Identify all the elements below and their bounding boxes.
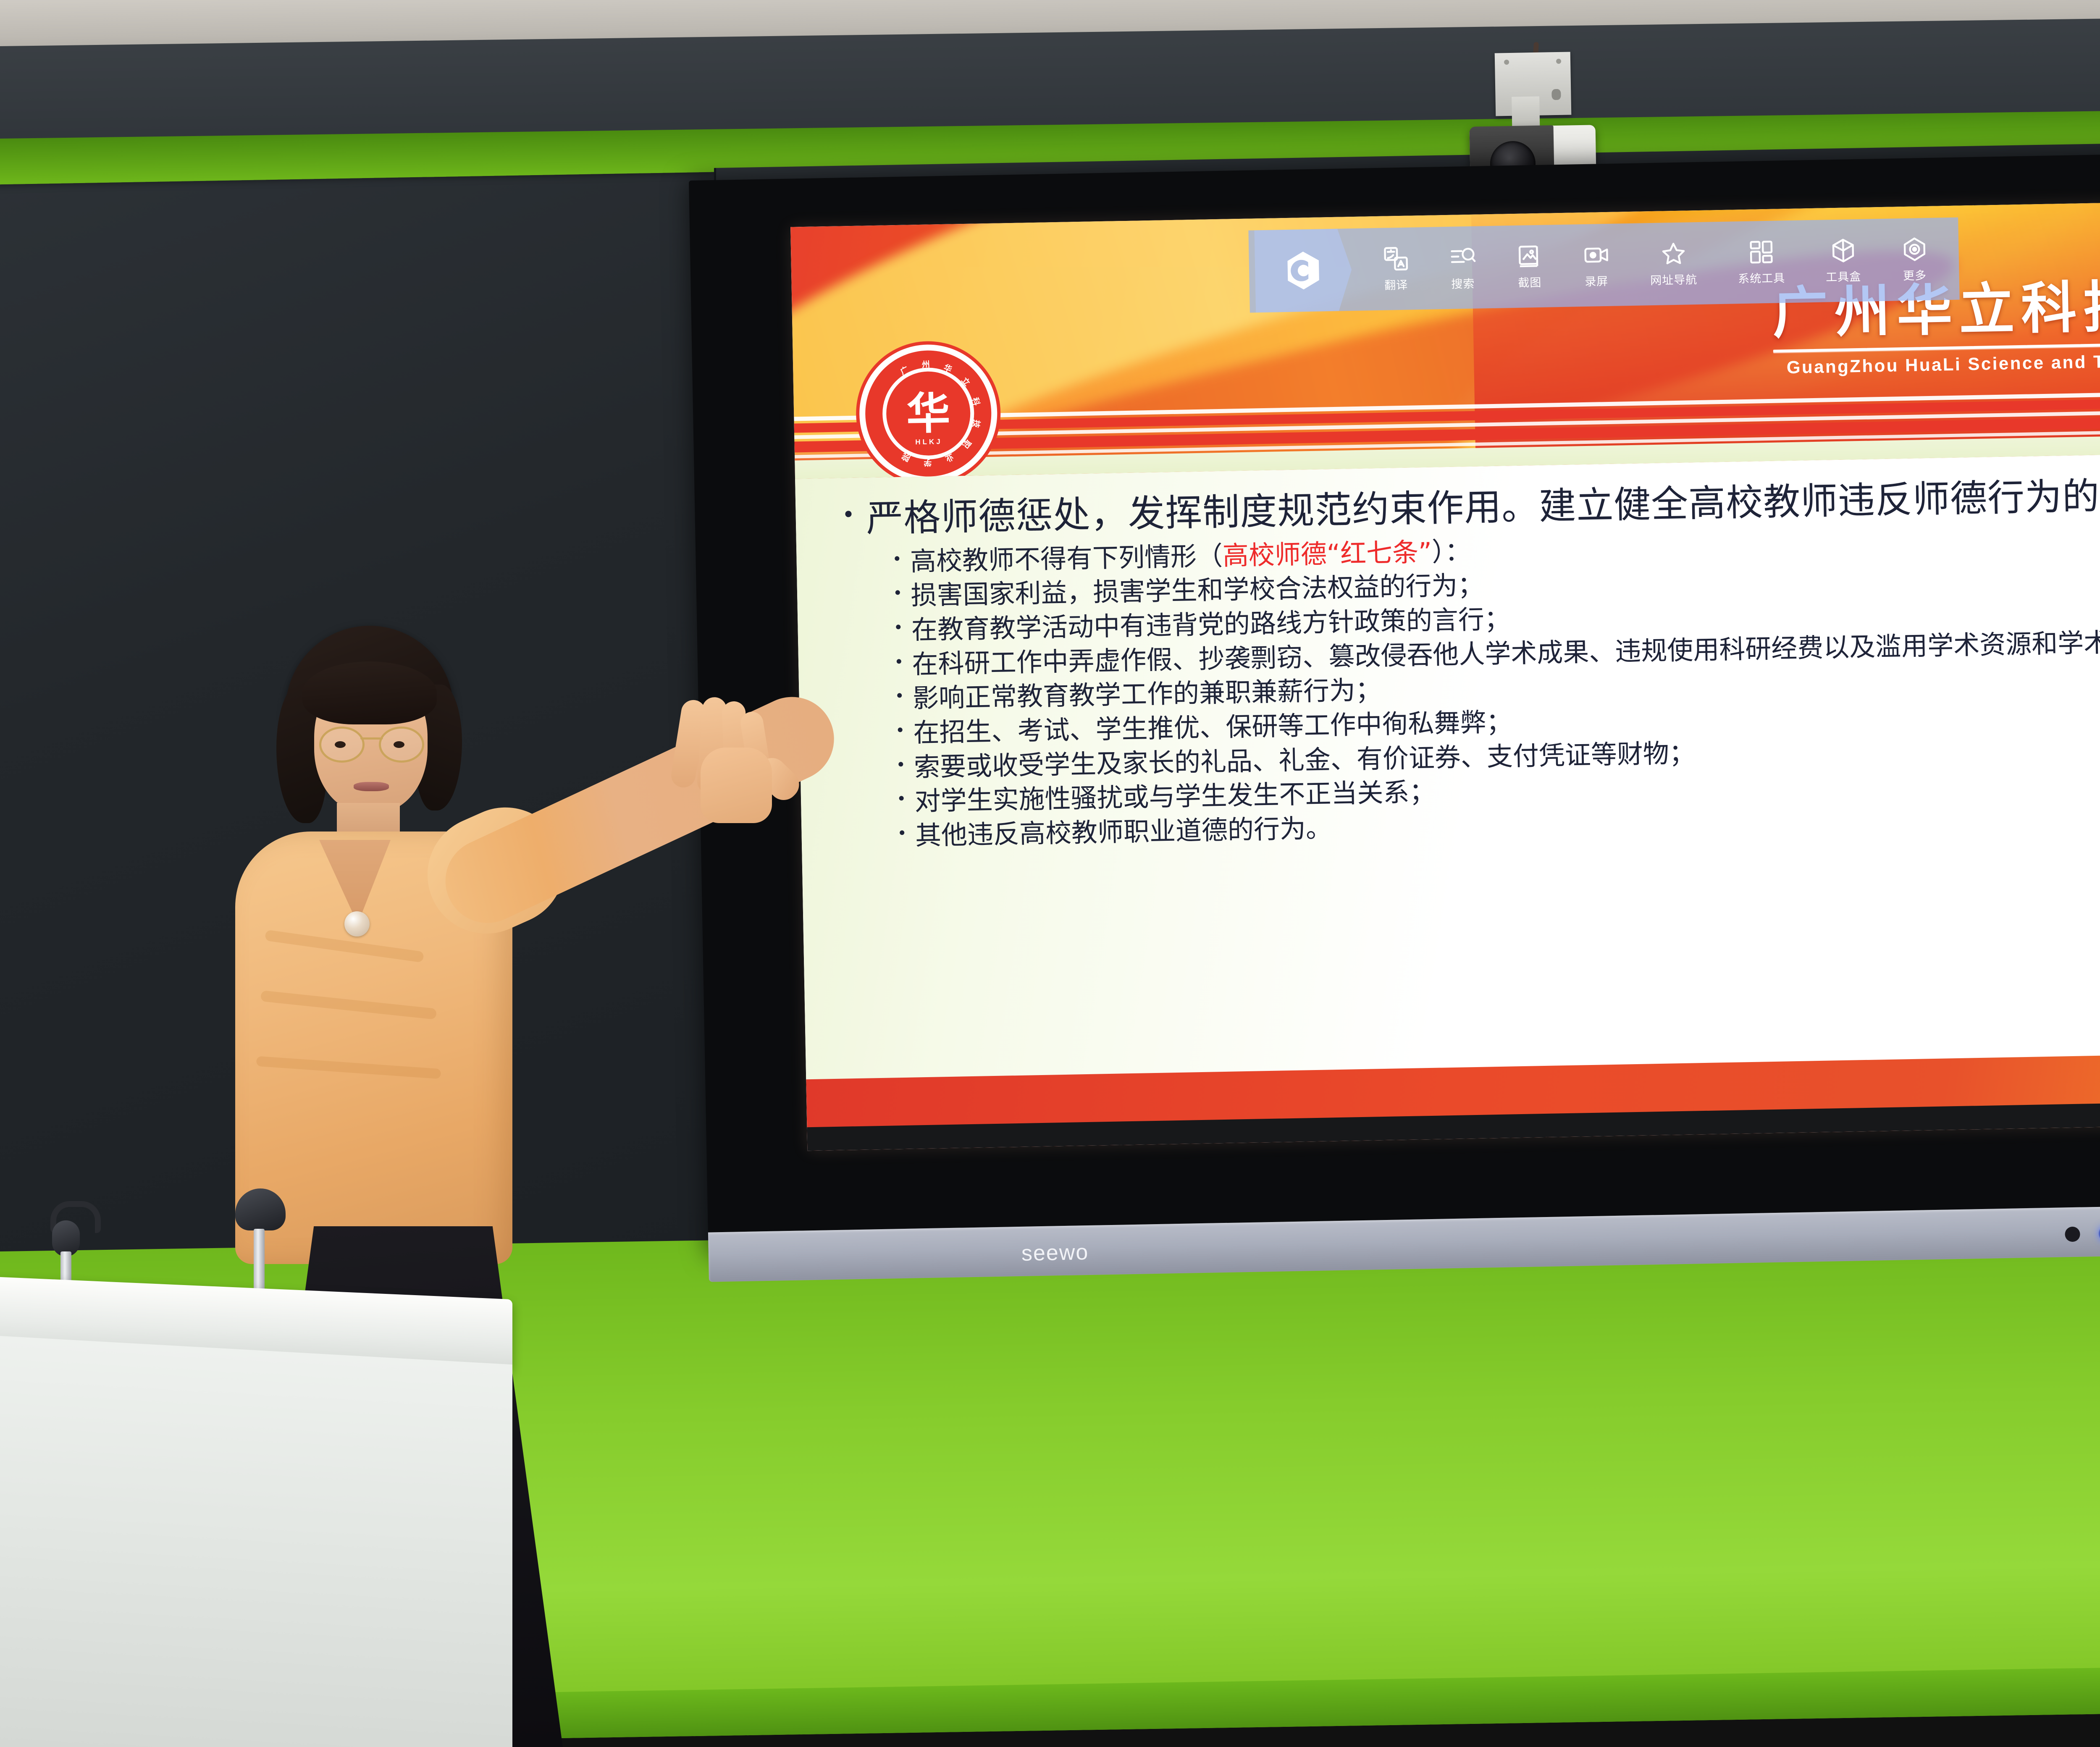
screenshot-root: 华 HLKJ 广州华立科技职业学院 广州华立科技职业学院 GuangZhou H… [0,0,2100,1747]
bullet-marker: • [892,546,902,567]
glasses [319,727,424,758]
presentation-slide: 华 HLKJ 广州华立科技职业学院 广州华立科技职业学院 GuangZhou H… [790,197,2100,1151]
mouth [354,782,389,791]
bullet-marker: • [893,580,903,601]
podium-front [0,1335,512,1747]
power-button[interactable] [2098,1225,2100,1242]
toolbar-label: 系统工具 [1738,269,1785,286]
slide-sub-bullet-text: 影响正常教育教学工作的兼职兼薪行为； [912,674,1381,714]
toolbar-item-translate[interactable]: 翻译 [1383,245,1410,292]
toolbar-label: 工具盒 [1826,267,1861,284]
toolbar-item-record[interactable]: 录屏 [1583,241,1610,289]
seewo-brand-label: seewo [1021,1240,1089,1266]
toolbar-label: 搜索 [1451,274,1475,291]
toolbar-label: 截图 [1518,273,1542,290]
slide-header: 华 HLKJ 广州华立科技职业学院 广州华立科技职业学院 GuangZhou H… [790,197,2100,479]
seal-ring-text: 广州华立科技职业学院 [866,351,991,476]
floating-toolbar[interactable]: 翻译 搜索 [1248,218,1959,313]
toolbar-item-system-tools[interactable]: 系统工具 [1737,239,1785,286]
bangs [302,661,437,724]
toolbar-label: 录屏 [1585,272,1609,289]
toolbar-item-toolbox[interactable]: 工具盒 [1825,237,1861,284]
toolbar-label: 翻译 [1384,275,1408,292]
ir-receiver-icon [2065,1227,2080,1242]
toolbar-items: 翻译 搜索 [1351,218,1959,311]
slide-sub-bullet-text: 对学生实施性骚扰或与学生发生不正当关系； [914,776,1436,817]
toolbar-item-screenshot[interactable]: 截图 [1516,243,1543,290]
slide-body: • 严格师德惩处，发挥制度规范约束作用。建立健全高校教师违反师德行为的惩处机制。… [795,449,2100,1079]
hand [676,697,794,823]
toolbar-label: 更多 [1903,266,1927,283]
chaoxing-logo-icon[interactable] [1254,228,1352,312]
toolbar-item-more[interactable]: 更多 [1901,236,1928,283]
toolbar-label: 网址导航 [1650,270,1698,288]
bezel-button-row[interactable] [2098,1222,2100,1242]
toolbar-item-search[interactable]: 搜索 [1449,244,1476,291]
bullet-marker: • [842,497,856,526]
slide-sub-bullet-text: 其他违反高校教师职业道德的行为。 [915,812,1332,852]
slide-sub-bullet-list: •高校教师不得有下列情形（高校师德“红七条”）：•损害国家利益，损害学生和学校合… [843,519,2100,853]
toolbar-item-web-nav[interactable]: 网址导航 [1650,240,1698,288]
highlighted-term: 高校师德“红七条” [1222,537,1432,571]
pendant [344,911,370,936]
display-screen[interactable]: 华 HLKJ 广州华立科技职业学院 广州华立科技职业学院 GuangZhou H… [790,197,2100,1151]
